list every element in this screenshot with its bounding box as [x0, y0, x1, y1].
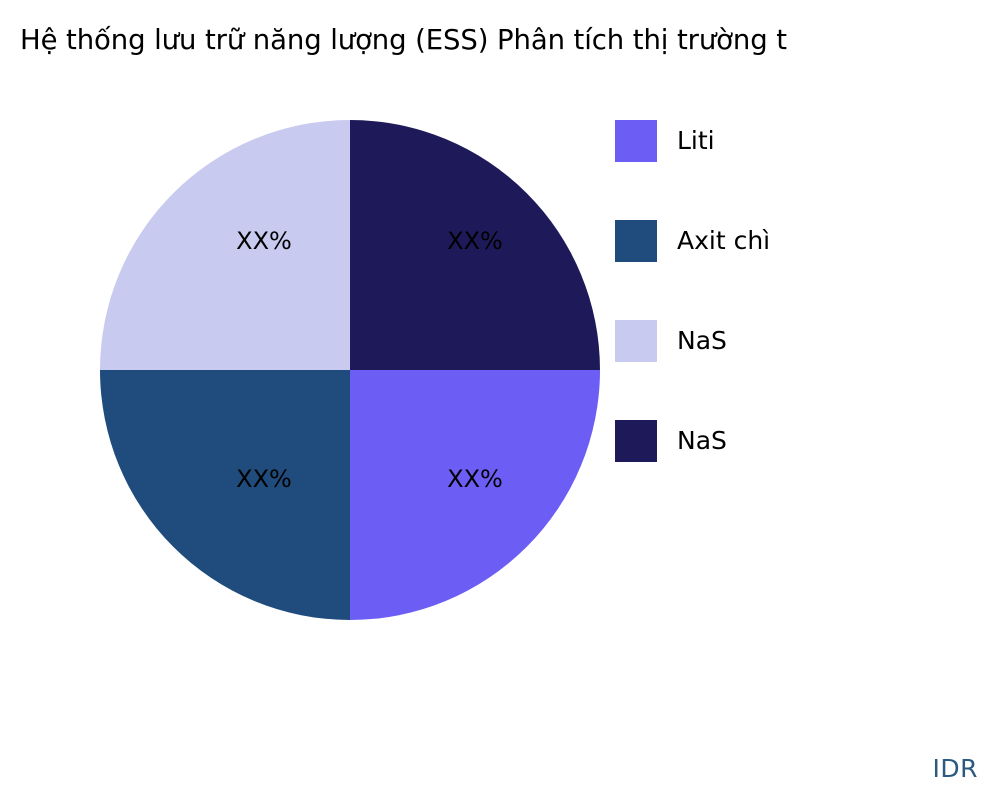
legend-item-nas-light[interactable]: NaS — [615, 320, 975, 420]
pie-slice-bottom-right[interactable] — [350, 370, 600, 620]
legend-item-liti[interactable]: Liti — [615, 120, 975, 220]
pie-slice-label-top-left: XX% — [236, 227, 292, 255]
legend-item-label: Liti — [677, 120, 715, 162]
legend-swatch-icon — [615, 320, 657, 362]
legend-swatch-icon — [615, 420, 657, 462]
legend-item-label: NaS — [677, 320, 727, 362]
legend-swatch-icon — [615, 220, 657, 262]
watermark-label: IDR — [933, 754, 979, 783]
legend-item-nas-dark[interactable]: NaS — [615, 420, 975, 520]
legend: Liti Axit chì NaS NaS — [615, 120, 975, 520]
pie-slice-top-left[interactable] — [100, 120, 350, 370]
pie-chart-svg: XX% XX% XX% XX% — [100, 120, 600, 620]
legend-item-label: NaS — [677, 420, 727, 462]
legend-item-label: Axit chì — [677, 220, 770, 262]
legend-swatch-icon — [615, 120, 657, 162]
legend-item-axit-chi[interactable]: Axit chì — [615, 220, 975, 320]
pie-chart: XX% XX% XX% XX% — [100, 120, 600, 620]
pie-slice-label-bottom-left: XX% — [236, 465, 292, 493]
page-title: Hệ thống lưu trữ năng lượng (ESS) Phân t… — [20, 20, 1000, 60]
pie-slice-bottom-left[interactable] — [100, 370, 350, 620]
pie-slice-label-bottom-right: XX% — [447, 465, 503, 493]
pie-slice-label-top-right: XX% — [447, 227, 503, 255]
